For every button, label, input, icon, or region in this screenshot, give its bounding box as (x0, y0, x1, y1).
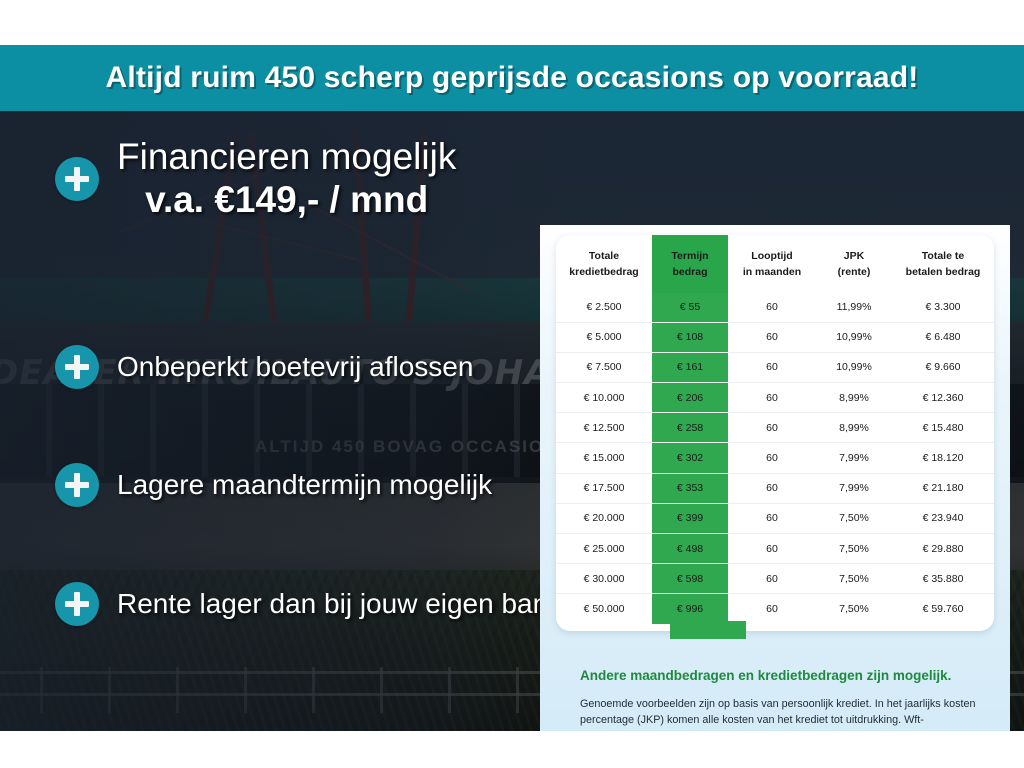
table-cell: € 6.480 (892, 322, 994, 352)
table-cell: 7,99% (816, 443, 892, 473)
table-cell: € 206 (652, 383, 728, 413)
table-header-cell: Looptijdin maanden (728, 235, 816, 293)
table-row: € 15.000€ 302607,99%€ 18.120 (556, 443, 994, 473)
table-header-cell: Totalekredietbedrag (556, 235, 652, 293)
table-cell: 60 (728, 352, 816, 382)
table-header-cell: Termijnbedrag (652, 235, 728, 293)
table-cell: 8,99% (816, 413, 892, 443)
table-cell: € 498 (652, 534, 728, 564)
table-row: € 12.500€ 258608,99%€ 15.480 (556, 413, 994, 443)
table-cell: € 598 (652, 564, 728, 594)
table-cell: 7,50% (816, 534, 892, 564)
table-cell: € 59.760 (892, 594, 994, 624)
table-cell: € 10.000 (556, 383, 652, 413)
feature-item-lagere-maandtermijn: Lagere maandtermijn mogelijk (55, 463, 492, 507)
table-cell: € 20.000 (556, 503, 652, 533)
table-cell: € 353 (652, 473, 728, 503)
table-cell: € 15.000 (556, 443, 652, 473)
table-cell: 60 (728, 443, 816, 473)
plus-icon (55, 345, 99, 389)
table-cell: € 29.880 (892, 534, 994, 564)
feature-line-1: Onbeperkt boetevrij aflossen (117, 350, 473, 384)
plus-icon (55, 582, 99, 626)
table-row: € 50.000€ 996607,50%€ 59.760 (556, 594, 994, 624)
table-cell: € 5.000 (556, 322, 652, 352)
headline-text: Altijd ruim 450 scherp geprijsde occasio… (106, 61, 919, 95)
dealership-photo: DEALER INRUILAUTO'S JOHAN MEURE ALTIJD 4… (0, 111, 1024, 731)
headline-banner: Altijd ruim 450 scherp geprijsde occasio… (0, 45, 1024, 111)
feature-item-lagere-rente: Rente lager dan bij jouw eigen bank (55, 582, 562, 626)
table-cell: 60 (728, 383, 816, 413)
table-cell: 10,99% (816, 322, 892, 352)
table-cell: 10,99% (816, 352, 892, 382)
table-cell: € 302 (652, 443, 728, 473)
table-cell: 7,50% (816, 564, 892, 594)
table-row: € 20.000€ 399607,50%€ 23.940 (556, 503, 994, 533)
table-cell: € 108 (652, 322, 728, 352)
table-header-row: TotalekredietbedragTermijnbedragLooptijd… (556, 235, 994, 293)
credit-note: Andere maandbedragen en kredietbedragen … (580, 667, 980, 731)
note-title: Andere maandbedragen en kredietbedragen … (580, 667, 980, 685)
feature-item-financieren: Financieren mogelijk v.a. €149,- / mnd (55, 136, 456, 222)
table-row: € 30.000€ 598607,50%€ 35.880 (556, 564, 994, 594)
feature-line-1: Rente lager dan bij jouw eigen bank (117, 587, 562, 621)
table-cell: € 7.500 (556, 352, 652, 382)
table-row: € 7.500€ 1616010,99%€ 9.660 (556, 352, 994, 382)
table-cell: 60 (728, 594, 816, 624)
table-cell: 60 (728, 503, 816, 533)
table-cell: € 21.180 (892, 473, 994, 503)
highlight-column-cap (670, 621, 746, 639)
table-cell: € 12.500 (556, 413, 652, 443)
table-cell: € 55 (652, 293, 728, 323)
table-cell: 60 (728, 564, 816, 594)
table-cell: € 161 (652, 352, 728, 382)
table-cell: 8,99% (816, 383, 892, 413)
table-cell: € 25.000 (556, 534, 652, 564)
feature-item-boetevrij-aflossen: Onbeperkt boetevrij aflossen (55, 345, 473, 389)
table-row: € 17.500€ 353607,99%€ 21.180 (556, 473, 994, 503)
feature-line-1: Lagere maandtermijn mogelijk (117, 468, 492, 502)
table-cell: € 258 (652, 413, 728, 443)
table-header-cell: Totale tebetalen bedrag (892, 235, 994, 293)
plus-icon (55, 463, 99, 507)
note-body: Genoemde voorbeelden zijn op basis van p… (580, 696, 980, 731)
rates-table: TotalekredietbedragTermijnbedragLooptijd… (556, 235, 994, 624)
table-header-cell: JPK(rente) (816, 235, 892, 293)
table-cell: 60 (728, 322, 816, 352)
plus-icon (55, 157, 99, 201)
feature-text: Financieren mogelijk v.a. €149,- / mnd (117, 136, 456, 222)
table-row: € 25.000€ 498607,50%€ 29.880 (556, 534, 994, 564)
table-cell: 7,99% (816, 473, 892, 503)
table-cell: € 18.120 (892, 443, 994, 473)
table-body: € 2.500€ 556011,99%€ 3.300€ 5.000€ 10860… (556, 293, 994, 624)
table-cell: € 12.360 (892, 383, 994, 413)
table-cell: 7,50% (816, 503, 892, 533)
table-cell: 60 (728, 293, 816, 323)
feature-list: Financieren mogelijk v.a. €149,- / mnd O… (0, 111, 560, 731)
table-cell: € 23.940 (892, 503, 994, 533)
table-cell: € 30.000 (556, 564, 652, 594)
table-cell: 60 (728, 534, 816, 564)
table-cell: € 399 (652, 503, 728, 533)
table-cell: € 3.300 (892, 293, 994, 323)
rates-table-card: TotalekredietbedragTermijnbedragLooptijd… (556, 235, 994, 631)
table-cell: € 9.660 (892, 352, 994, 382)
advertisement-page: Altijd ruim 450 scherp geprijsde occasio… (0, 0, 1024, 768)
table-cell: € 2.500 (556, 293, 652, 323)
feature-line-2: v.a. €149,- / mnd (117, 179, 456, 222)
table-cell: 11,99% (816, 293, 892, 323)
credit-info-panel: TotalekredietbedragTermijnbedragLooptijd… (540, 225, 1010, 731)
table-cell: € 35.880 (892, 564, 994, 594)
table-cell: € 996 (652, 594, 728, 624)
table-cell: 60 (728, 473, 816, 503)
table-cell: € 15.480 (892, 413, 994, 443)
table-cell: € 50.000 (556, 594, 652, 624)
table-cell: € 17.500 (556, 473, 652, 503)
table-row: € 2.500€ 556011,99%€ 3.300 (556, 293, 994, 323)
feature-line-1: Financieren mogelijk (117, 136, 456, 179)
table-cell: 7,50% (816, 594, 892, 624)
table-row: € 5.000€ 1086010,99%€ 6.480 (556, 322, 994, 352)
table-row: € 10.000€ 206608,99%€ 12.360 (556, 383, 994, 413)
table-cell: 60 (728, 413, 816, 443)
